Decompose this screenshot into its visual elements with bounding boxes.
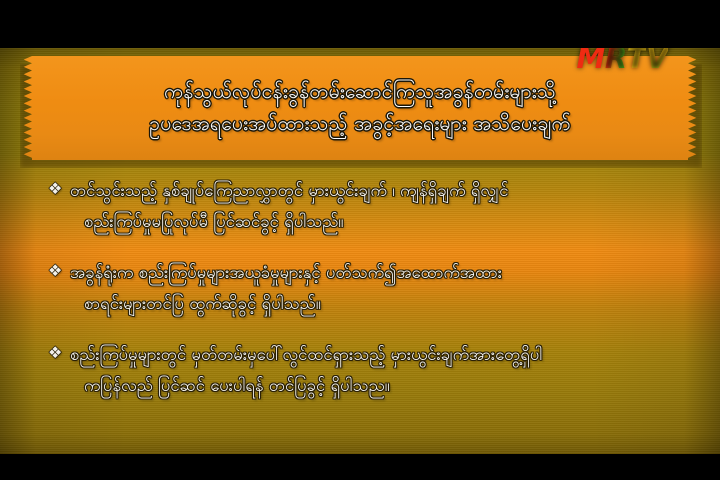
diamond-bullet-icon: ❖ bbox=[48, 181, 70, 197]
list-item-text: စည်းကြပ်မှုများတွင် မှတ်တမ်းမှပေါ်လွင်ထင… bbox=[70, 339, 694, 401]
tv-broadcast-screen: ကုန်သွယ်လုပ်ငန်းခွန်တမ်းဆောင်ကြသူအခွန်တမ… bbox=[0, 0, 720, 480]
bullet-list: ❖ တင်သွင်းသည့် နှစ်ချုပ်ကြေညာလွှာတွင် မှ… bbox=[0, 175, 720, 421]
list-item-line: တင်သွင်းသည့် နှစ်ချုပ်ကြေညာလွှာတွင် မှား… bbox=[70, 175, 694, 206]
diamond-bullet-icon: ❖ bbox=[48, 263, 70, 279]
logo-letter-v: V bbox=[646, 44, 668, 73]
logo-letter-r: R bbox=[605, 44, 627, 73]
list-item: ❖ စည်းကြပ်မှုများတွင် မှတ်တမ်းမှပေါ်လွင်… bbox=[48, 339, 694, 401]
list-item-line: စာရင်းများတင်ပြ ထွက်ဆိုခွင့် ရှိပါသည်။ bbox=[70, 288, 694, 319]
mrtv-channel-logo: M R T V bbox=[577, 44, 668, 73]
list-item-text: အခွန်ရုံးက စည်းကြပ်မှုများအယူခံမှုများနှ… bbox=[70, 257, 694, 319]
banner-line-1: ကုန်သွယ်လုပ်ငန်းခွန်တမ်းဆောင်ကြသူအခွန်တမ… bbox=[164, 77, 556, 107]
list-item-line: စည်းကြပ်မှုမပြုလုပ်မီ ပြင်ဆင်ခွင့် ရှိပါ… bbox=[70, 206, 694, 237]
list-item-line: ကပြန်လည် ပြင်ဆင် ပေးပါရန် တင်ပြခွင့် ရှိ… bbox=[70, 370, 694, 401]
letterbox-bar-top bbox=[0, 0, 720, 48]
list-item-line: အခွန်ရုံးက စည်းကြပ်မှုများအယူခံမှုများနှ… bbox=[70, 257, 694, 288]
logo-letter-m: M bbox=[577, 44, 605, 73]
list-item-line: စည်းကြပ်မှုများတွင် မှတ်တမ်းမှပေါ်လွင်ထင… bbox=[70, 339, 694, 370]
letterbox-bar-bottom bbox=[0, 454, 720, 480]
list-item-text: တင်သွင်းသည့် နှစ်ချုပ်ကြေညာလွှာတွင် မှား… bbox=[70, 175, 694, 237]
list-item: ❖ တင်သွင်းသည့် နှစ်ချုပ်ကြေညာလွှာတွင် မှ… bbox=[48, 175, 694, 237]
list-item: ❖ အခွန်ရုံးက စည်းကြပ်မှုများအယူခံမှုများ… bbox=[48, 257, 694, 319]
banner-line-2: ဥပဒေအရပေးအပ်ထားသည့် အခွင့်အရေးများ အသိပေ… bbox=[149, 109, 571, 139]
diamond-bullet-icon: ❖ bbox=[48, 345, 70, 361]
logo-letter-t: T bbox=[627, 44, 646, 73]
